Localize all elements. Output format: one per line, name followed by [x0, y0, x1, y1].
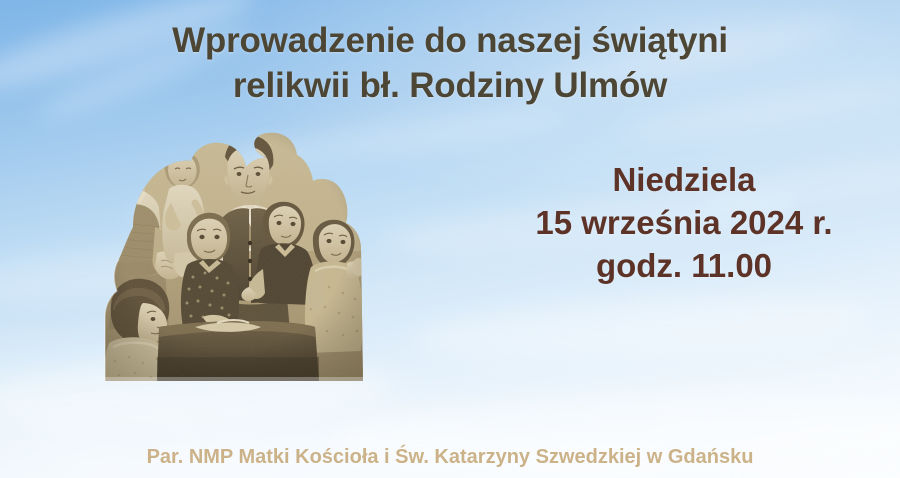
- photo-content-group: [99, 131, 367, 381]
- event-details: Niedziela 15 września 2024 r. godz. 11.0…: [469, 158, 899, 287]
- poster-canvas: Wprowadzenie do naszej świątyni relikwii…: [0, 0, 900, 478]
- footer: Par. NMP Matki Kościoła i Św. Katarzyny …: [0, 444, 900, 470]
- poster-title: Wprowadzenie do naszej świątyni relikwii…: [0, 18, 900, 108]
- parish-name: Par. NMP Matki Kościoła i Św. Katarzyny …: [0, 444, 900, 470]
- event-time: godz. 11.00: [469, 244, 899, 287]
- family-photo-illustration: [99, 131, 367, 381]
- event-day-name: Niedziela: [469, 158, 899, 201]
- ulma-family-photograph: [99, 131, 367, 381]
- title-line-1: Wprowadzenie do naszej świątyni: [0, 18, 900, 63]
- title-line-2: relikwii bł. Rodziny Ulmów: [0, 63, 900, 108]
- event-date: 15 września 2024 r.: [469, 201, 899, 244]
